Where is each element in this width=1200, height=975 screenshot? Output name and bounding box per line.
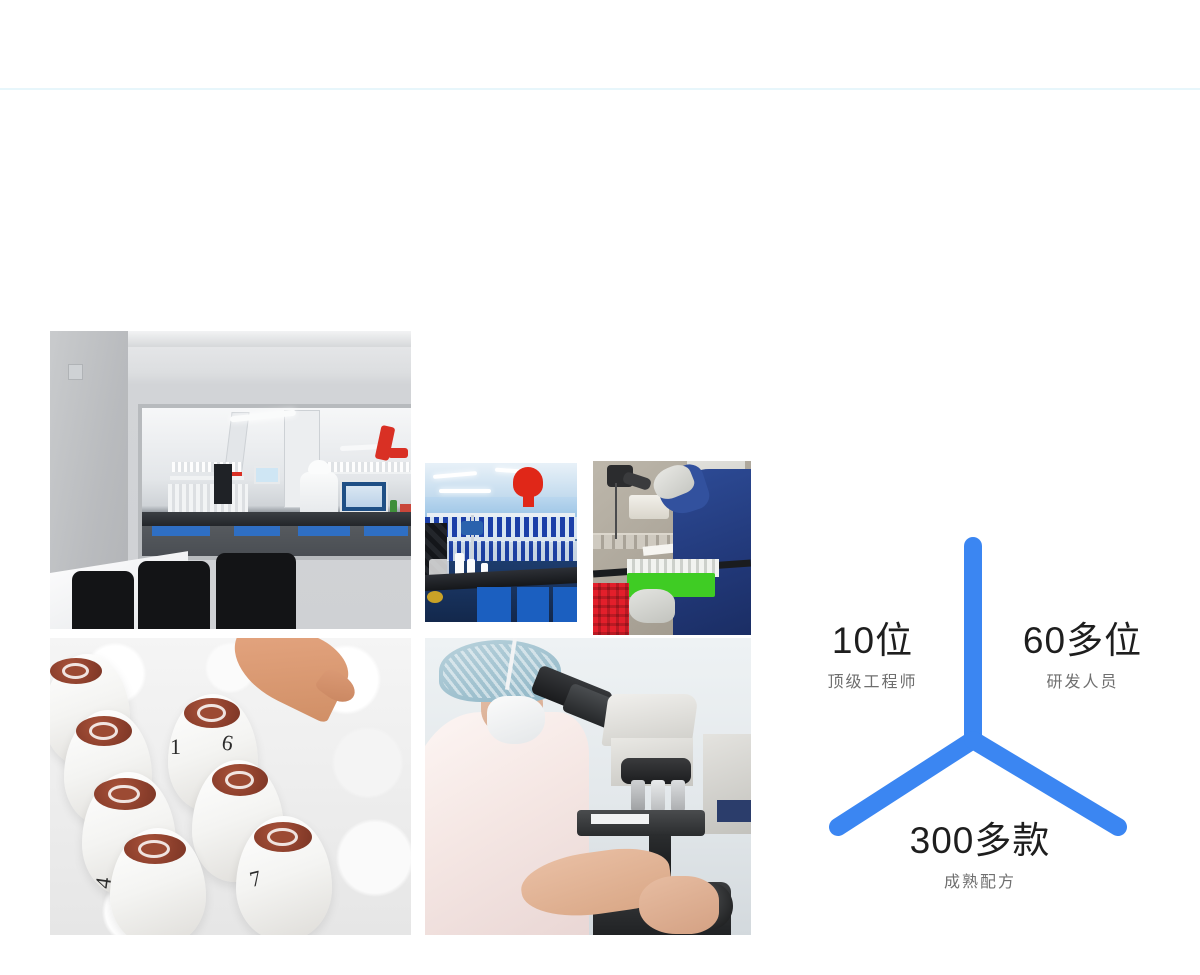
technician-cap: [308, 460, 330, 474]
stat-engineers: 10位 顶级工程师: [795, 622, 950, 692]
face-mask: [487, 696, 545, 744]
stat-engineers-value: 10位: [795, 622, 950, 659]
photo-gallery: 1 6 4 7: [0, 0, 800, 975]
window-interior: [142, 408, 411, 556]
egg-window: [124, 834, 186, 864]
photo-scientist-at-microscope: [425, 638, 751, 935]
emergency-shower-stem: [523, 485, 534, 507]
blue-apparatus: [461, 521, 483, 535]
microscope-scene: [425, 638, 751, 935]
photo-cleanroom-observation-window: [50, 331, 411, 629]
stat-formulas-label: 成熟配方: [880, 868, 1080, 892]
stat-formulas: 300多款 成熟配方: [880, 822, 1080, 892]
egg-window: [254, 822, 312, 852]
red-valve: [388, 448, 408, 458]
lab-bench: [142, 512, 411, 526]
objective-lens: [631, 780, 645, 814]
egg-window: [76, 716, 132, 746]
blue-cabinet: [234, 526, 280, 536]
blue-cabinet: [364, 526, 408, 536]
egg-window: [94, 778, 156, 810]
egg-window: [212, 764, 268, 796]
scientist-hand: [639, 876, 719, 934]
photo-embryonated-eggs: 1 6 4 7: [50, 638, 411, 935]
reagent-bottles: [322, 462, 410, 472]
gloved-hand: [629, 589, 675, 623]
cleanroom-scene: [50, 331, 411, 629]
office-chair: [138, 561, 210, 629]
stat-researchers: 60多位 研发人员: [1000, 622, 1165, 692]
office-chair: [72, 571, 134, 629]
egg-number: 1: [170, 734, 181, 760]
probe-line: [615, 483, 617, 539]
specimen-slide: [591, 814, 649, 824]
blue-cabinet: [298, 526, 350, 536]
y-branch-left: [838, 740, 973, 827]
tube-rack-scene: [593, 461, 751, 635]
wall-switch: [68, 364, 83, 380]
ceiling-light: [439, 489, 491, 493]
lab-bench-scene: [425, 463, 577, 622]
photo-technician-with-tube-racks: [593, 461, 751, 635]
stat-formulas-value: 300多款: [880, 822, 1080, 859]
red-tube-rack: [593, 583, 629, 635]
photo-blue-laboratory-bench: [425, 463, 577, 622]
y-branch-right: [973, 740, 1118, 827]
stat-engineers-label: 顶级工程师: [795, 668, 950, 692]
page-root: 1 6 4 7: [0, 0, 1200, 975]
objective-lens: [651, 780, 665, 814]
computer-monitor: [340, 480, 388, 514]
blue-cabinet: [152, 526, 210, 536]
observation-window: [138, 404, 411, 560]
control-panel: [254, 466, 280, 484]
objective-lens: [671, 780, 685, 814]
yellow-container: [427, 591, 443, 603]
blue-cabinet: [477, 587, 511, 622]
dark-equipment: [214, 464, 232, 504]
blue-reagent-bottles: [425, 541, 577, 561]
blue-cabinet: [517, 587, 549, 622]
microscope-blue-label: [717, 800, 751, 822]
stat-researchers-value: 60多位: [1000, 622, 1165, 659]
office-chair: [216, 553, 296, 629]
stat-researchers-label: 研发人员: [1000, 668, 1165, 692]
egg-window: [184, 698, 240, 728]
blue-cabinet: [553, 587, 577, 622]
egg-window: [50, 658, 102, 684]
blue-reagent-bottles: [425, 517, 577, 539]
egg-tray-scene: 1 6 4 7: [50, 638, 411, 935]
lab-shelf: [170, 476, 244, 480]
